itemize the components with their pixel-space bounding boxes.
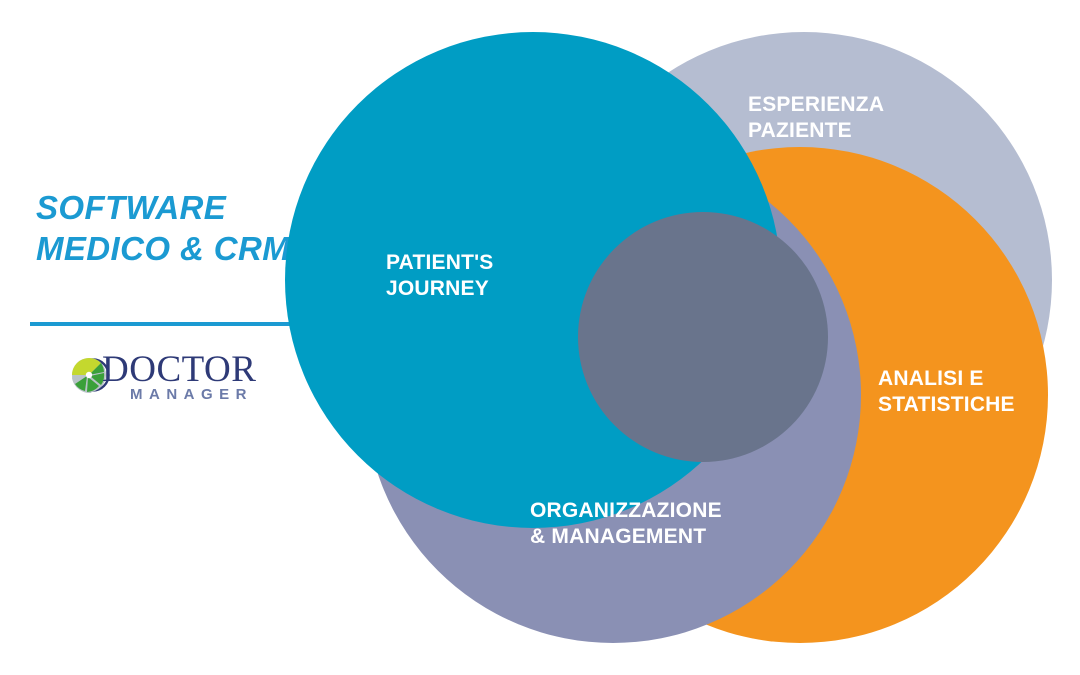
infographic-canvas: SOFTWARE MEDICO & CRM (0, 0, 1080, 675)
venn-diagram: PATIENT'S JOURNEY ESPERIENZA PAZIENTE AN… (0, 0, 1080, 675)
circle-center-overlap (578, 212, 828, 462)
